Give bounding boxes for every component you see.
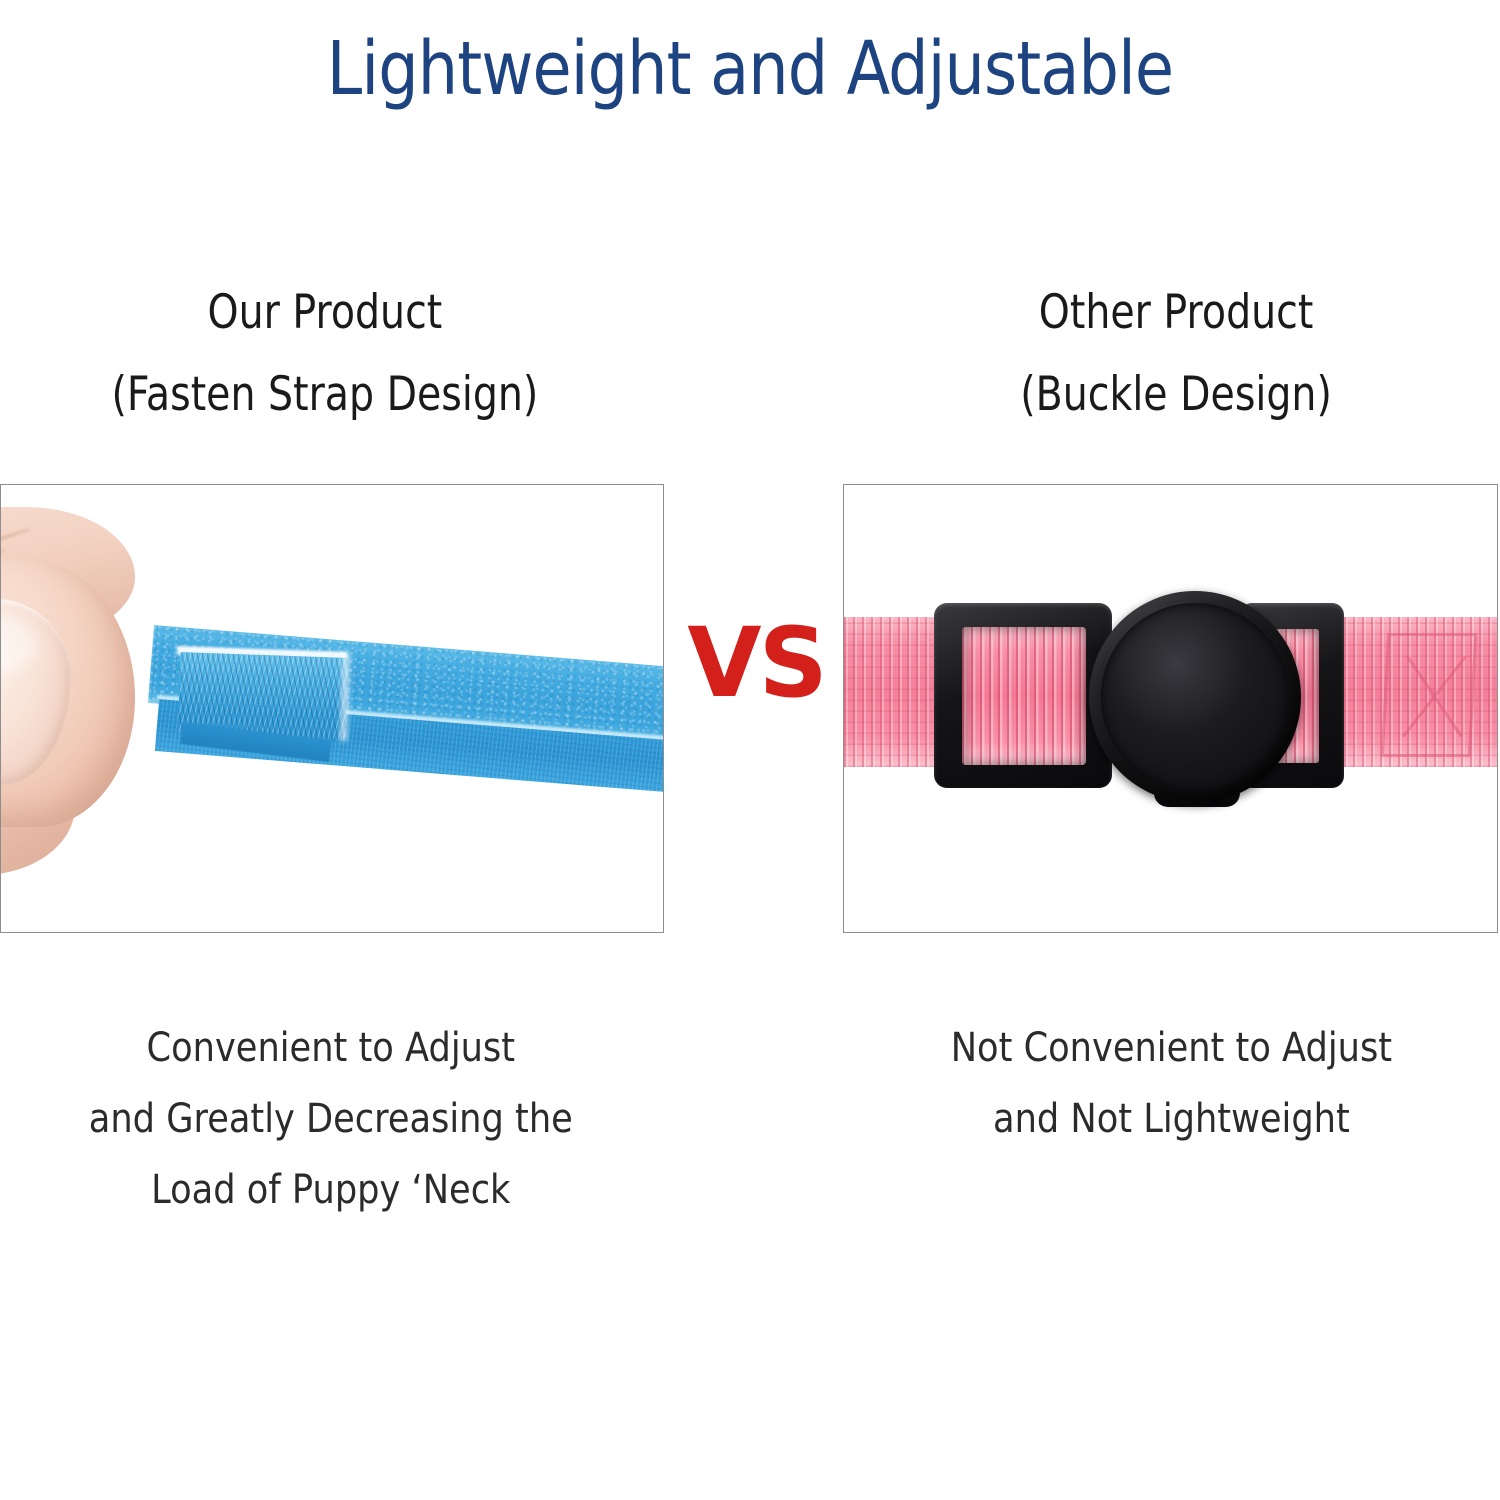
page-title: Lightweight and Adjustable <box>105 26 1395 112</box>
buckle-disc-inner-face <box>1101 603 1289 791</box>
collar-graphic <box>844 603 1498 793</box>
caption-line: and Not Lightweight <box>883 1084 1459 1155</box>
column-header-our-product: Our Product (Fasten Strap Design) <box>48 272 602 436</box>
caption-line: Load of Puppy ‘Neck <box>39 1155 623 1226</box>
buckle-inner-shadow <box>962 627 1086 765</box>
column-heading: Other Product <box>900 272 1452 354</box>
pink-collar-buckle-photo <box>843 484 1498 933</box>
column-subheading: (Buckle Design) <box>900 354 1452 436</box>
caption-line: Convenient to Adjust <box>39 1013 623 1084</box>
column-subheading: (Fasten Strap Design) <box>48 354 602 436</box>
caption-our-product: Convenient to Adjust and Greatly Decreas… <box>39 1013 623 1226</box>
column-header-other-product: Other Product (Buckle Design) <box>900 272 1452 436</box>
velcro-strap-graphic <box>151 605 664 855</box>
column-heading: Our Product <box>48 272 602 354</box>
hand-graphic <box>0 507 165 857</box>
caption-other-product: Not Convenient to Adjust and Not Lightwe… <box>883 1013 1459 1155</box>
caption-line: Not Convenient to Adjust <box>883 1013 1459 1084</box>
blue-velcro-strap-photo <box>0 484 664 933</box>
versus-label: VS <box>672 608 840 718</box>
buckle-left-opening <box>962 627 1086 765</box>
webbing-stitch-mark <box>1381 633 1477 757</box>
caption-line: and Greatly Decreasing the <box>39 1084 623 1155</box>
